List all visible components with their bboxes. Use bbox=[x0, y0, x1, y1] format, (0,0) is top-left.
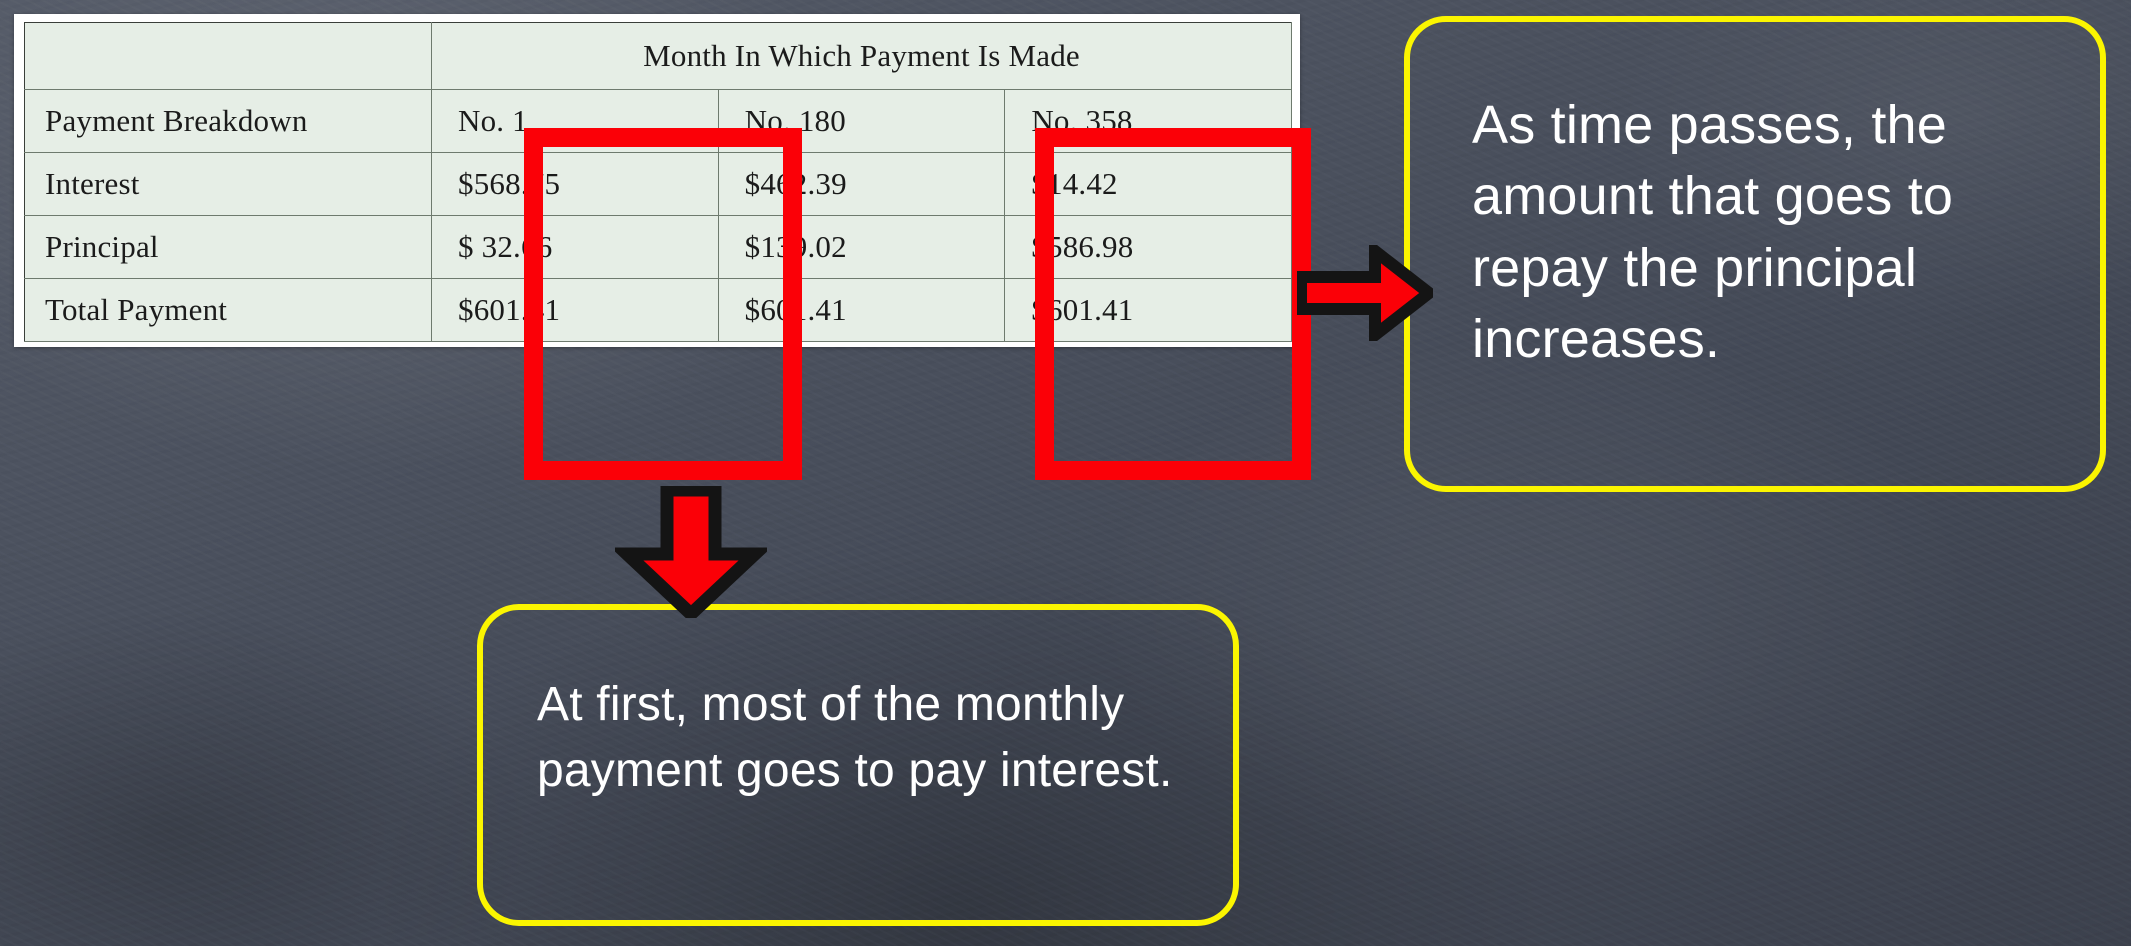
table-header-blank-cell bbox=[25, 23, 432, 90]
callout-pay-interest: At first, most of the monthly payment go… bbox=[477, 604, 1239, 926]
table-row-total-payment: Total Payment $601.41 $601.41 $601.41 bbox=[25, 279, 1292, 342]
callout-bottom-text: At first, most of the monthly payment go… bbox=[537, 672, 1203, 804]
cell-total-no-180: $601.41 bbox=[718, 279, 1005, 342]
cell-total-no-358: $601.41 bbox=[1005, 279, 1292, 342]
table-row-principal: Principal $ 32.66 $139.02 $586.98 bbox=[25, 216, 1292, 279]
row-label-payment-breakdown: Payment Breakdown bbox=[25, 90, 432, 153]
row-label-principal: Principal bbox=[25, 216, 432, 279]
cell-interest-no-1: $568.75 bbox=[432, 153, 719, 216]
down-arrow bbox=[615, 486, 767, 618]
column-header-no-1: No. 1 bbox=[432, 90, 719, 153]
callout-right-text: As time passes, the amount that goes to … bbox=[1472, 90, 2070, 375]
table-header-row: Month In Which Payment Is Made bbox=[25, 23, 1292, 90]
cell-interest-no-358: $14.42 bbox=[1005, 153, 1292, 216]
slide-canvas: Month In Which Payment Is Made Payment B… bbox=[0, 0, 2131, 946]
callout-principal-increases: As time passes, the amount that goes to … bbox=[1404, 16, 2106, 492]
cell-total-no-1: $601.41 bbox=[432, 279, 719, 342]
amortization-table: Month In Which Payment Is Made Payment B… bbox=[24, 22, 1292, 342]
row-label-total-payment: Total Payment bbox=[25, 279, 432, 342]
cell-principal-no-180: $139.02 bbox=[718, 216, 1005, 279]
cell-principal-no-358: $586.98 bbox=[1005, 216, 1292, 279]
table-row-interest: Interest $568.75 $462.39 $14.42 bbox=[25, 153, 1292, 216]
column-header-no-180: No. 180 bbox=[718, 90, 1005, 153]
row-label-interest: Interest bbox=[25, 153, 432, 216]
table-row-payment-breakdown: Payment Breakdown No. 1 No. 180 No. 358 bbox=[25, 90, 1292, 153]
amortization-table-image: Month In Which Payment Is Made Payment B… bbox=[14, 14, 1300, 347]
column-header-no-358: No. 358 bbox=[1005, 90, 1292, 153]
table-header-month-span: Month In Which Payment Is Made bbox=[432, 23, 1292, 90]
cell-principal-no-1: $ 32.66 bbox=[432, 216, 719, 279]
cell-interest-no-180: $462.39 bbox=[718, 153, 1005, 216]
right-arrow bbox=[1297, 245, 1433, 341]
